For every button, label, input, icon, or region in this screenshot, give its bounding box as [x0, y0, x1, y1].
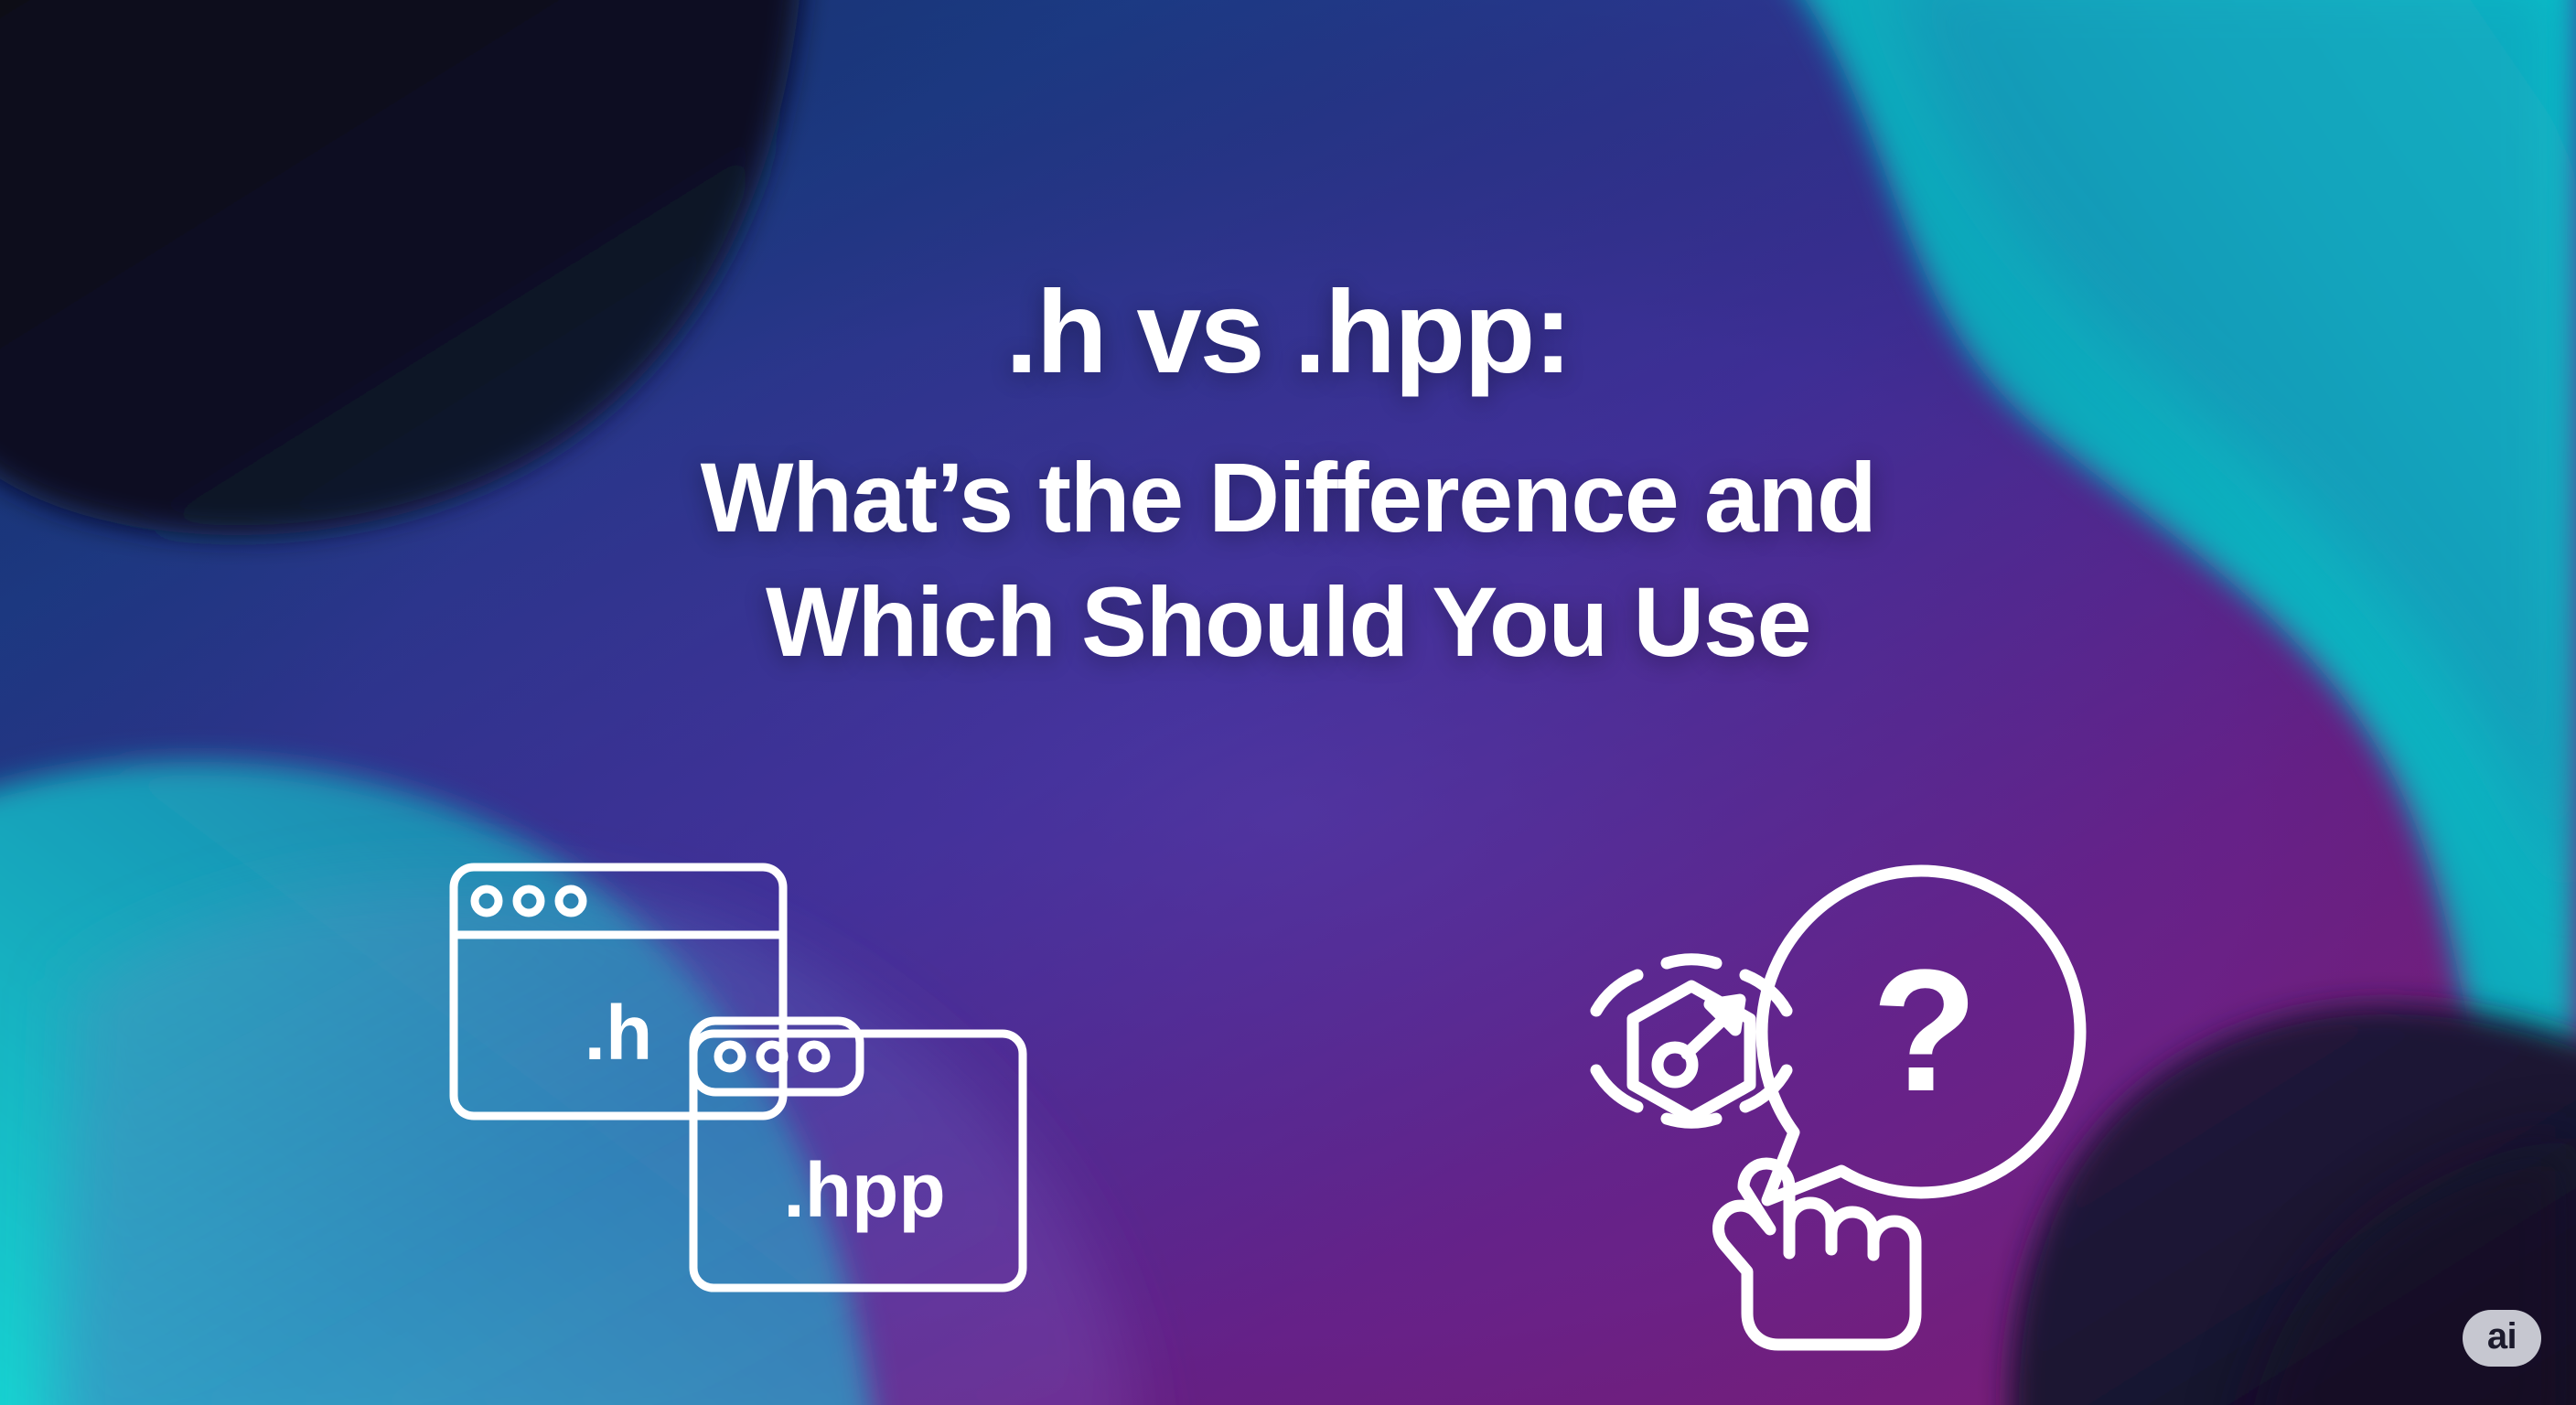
background-artwork [0, 0, 2576, 1405]
window-dot-icon [760, 1045, 784, 1068]
ai-badge[interactable]: ai [2463, 1310, 2541, 1367]
target-ring-segment [1667, 960, 1716, 963]
target-ring-segment [1596, 975, 1637, 1011]
file-windows-svg: .h .hpp [439, 851, 1061, 1326]
window-dot-icon [802, 1045, 826, 1068]
window-dot-icon [718, 1045, 742, 1068]
question-bubble-icon: ? [1762, 871, 2080, 1200]
window-h-label: .h [585, 990, 653, 1076]
window-dot-icon [559, 889, 583, 913]
ai-badge-label: ai [2487, 1318, 2517, 1355]
poster-canvas: .h vs .hpp: What’s the Difference and Wh… [0, 0, 2576, 1405]
window-hpp-label: .hpp [783, 1147, 945, 1233]
window-dot-icon [475, 889, 499, 913]
file-extension-illustration: .h .hpp [439, 851, 1061, 1326]
concept-illustration: ? [1537, 842, 2122, 1354]
window-hpp-traffic-lights [718, 1045, 826, 1068]
question-mark-glyph: ? [1872, 934, 1978, 1128]
window-dot-icon [517, 889, 541, 913]
concept-icons-svg: ? [1537, 842, 2122, 1354]
window-h-icon: .h [454, 867, 783, 1116]
window-h-traffic-lights [475, 889, 583, 913]
window-hpp-icon: .hpp [693, 1021, 1023, 1288]
